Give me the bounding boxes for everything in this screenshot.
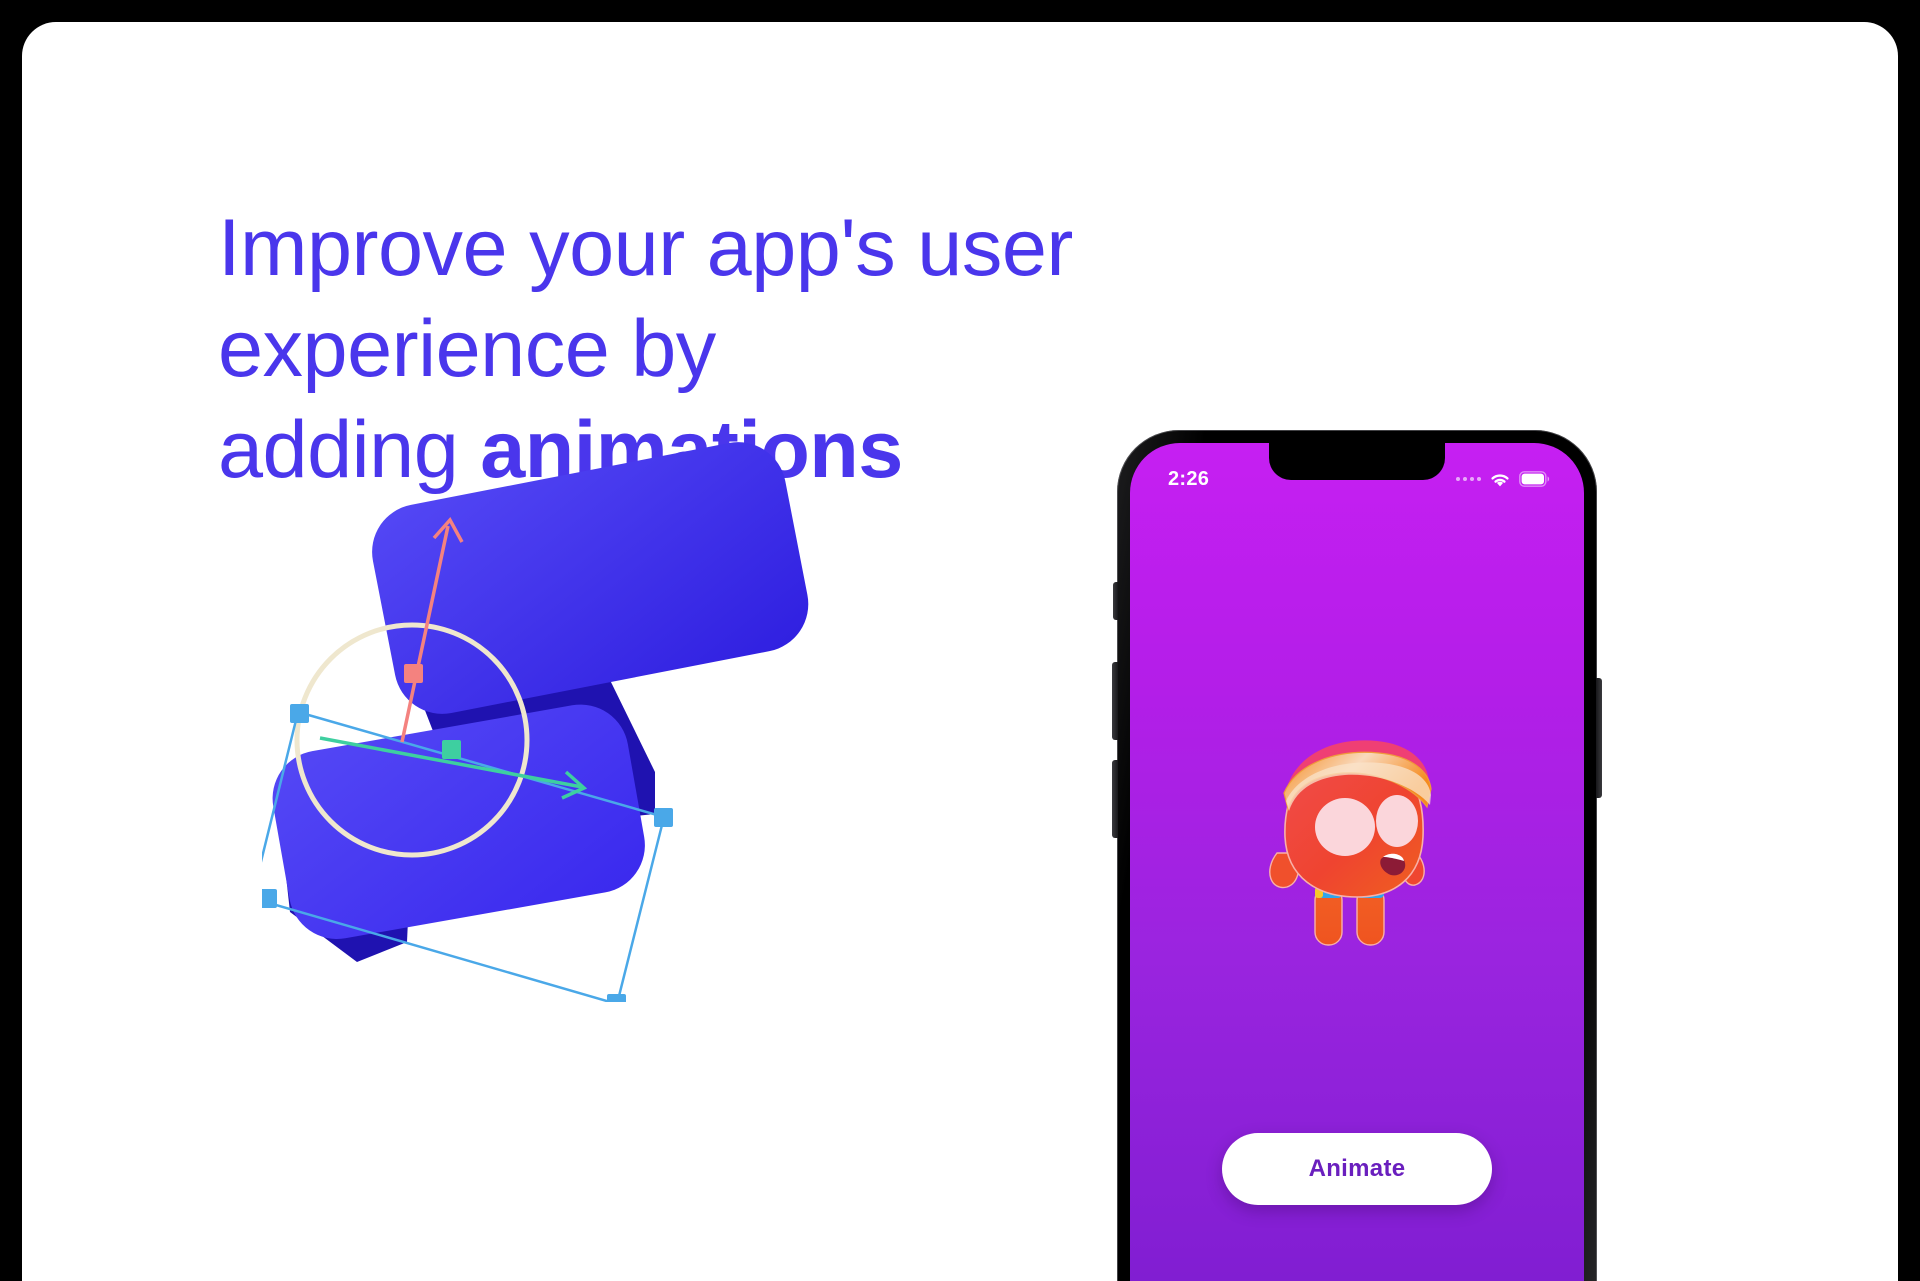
cellular-signal-dots-icon [1456,477,1481,481]
animation-keyframe-illustration [262,442,902,1002]
wifi-icon [1489,471,1511,488]
handle-top-left [290,704,309,723]
shape-top-card [364,442,817,722]
handle-keyframe-pink [404,664,423,683]
volume-up-button[interactable] [1112,662,1118,740]
volume-down-button[interactable] [1112,760,1118,838]
status-bar-time: 2:26 [1168,468,1209,491]
animate-button-label: Animate [1309,1155,1406,1183]
shape-bottom-card [265,697,653,947]
animate-button[interactable]: Animate [1222,1133,1492,1205]
page-frame: Improve your app's user experience byadd… [0,0,1920,1281]
content-card: Improve your app's user experience byadd… [22,22,1898,1281]
iphone-mockup: 2:26 [1117,430,1597,1281]
power-button[interactable] [1596,678,1602,798]
handle-keyframe-green [442,740,461,759]
handle-bottom-left [262,889,277,908]
phone-screen: 2:26 [1130,443,1584,1281]
orange-blob-mascot [1257,735,1457,955]
mute-switch[interactable] [1113,582,1118,620]
battery-full-icon [1519,471,1550,487]
handle-bottom-right [607,994,626,1002]
status-bar: 2:26 [1130,443,1584,499]
headline-line-1: Improve your app's user experience by [218,203,1095,394]
handle-right [654,808,673,827]
mascot-eye-left [1315,798,1375,856]
mascot-eye-right [1376,795,1418,847]
